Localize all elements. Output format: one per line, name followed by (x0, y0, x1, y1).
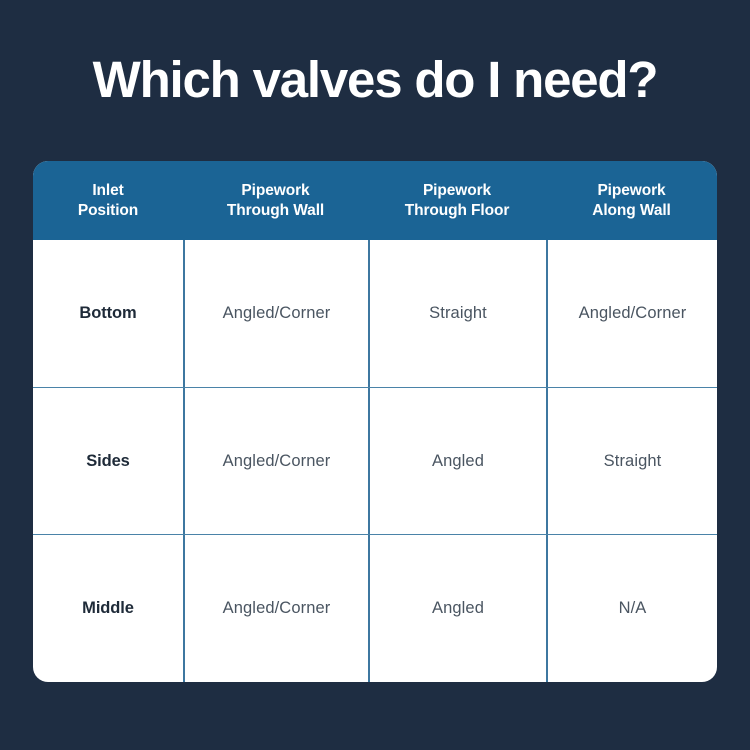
cell-middle-through-floor: Angled (368, 535, 546, 682)
column-header-pipework-along-wall: Pipework Along Wall (546, 161, 717, 240)
column-header-line-1: Inlet (92, 182, 123, 199)
cell-bottom-through-wall: Angled/Corner (183, 240, 368, 387)
column-header-line-2: Position (78, 202, 138, 219)
cell-middle-along-wall: N/A (546, 535, 717, 682)
column-header-inlet-position: Inlet Position (33, 161, 183, 240)
row-label-bottom: Bottom (33, 240, 183, 387)
table-header-row: Inlet Position Pipework Through Wall Pip… (33, 161, 717, 240)
column-header-line-2: Along Wall (592, 202, 671, 219)
valve-selection-table: Inlet Position Pipework Through Wall Pip… (33, 161, 717, 682)
page-title: Which valves do I need? (0, 52, 750, 108)
column-header-line-1: Pipework (423, 182, 491, 199)
cell-bottom-along-wall: Angled/Corner (546, 240, 717, 387)
row-label-sides: Sides (33, 388, 183, 535)
table-row: Sides Angled/Corner Angled Straight (33, 387, 717, 535)
column-header-line-1: Pipework (597, 182, 665, 199)
table-row: Middle Angled/Corner Angled N/A (33, 534, 717, 682)
cell-sides-through-wall: Angled/Corner (183, 388, 368, 535)
cell-sides-along-wall: Straight (546, 388, 717, 535)
cell-middle-through-wall: Angled/Corner (183, 535, 368, 682)
page-root: Which valves do I need? Inlet Position P… (0, 0, 750, 750)
table-body: Bottom Angled/Corner Straight Angled/Cor… (33, 240, 717, 682)
column-header-pipework-through-wall: Pipework Through Wall (183, 161, 368, 240)
column-header-line-2: Through Wall (227, 202, 324, 219)
cell-sides-through-floor: Angled (368, 388, 546, 535)
row-label-middle: Middle (33, 535, 183, 682)
column-header-pipework-through-floor: Pipework Through Floor (368, 161, 546, 240)
table-row: Bottom Angled/Corner Straight Angled/Cor… (33, 240, 717, 387)
column-header-line-1: Pipework (241, 182, 309, 199)
column-header-line-2: Through Floor (405, 202, 510, 219)
cell-bottom-through-floor: Straight (368, 240, 546, 387)
